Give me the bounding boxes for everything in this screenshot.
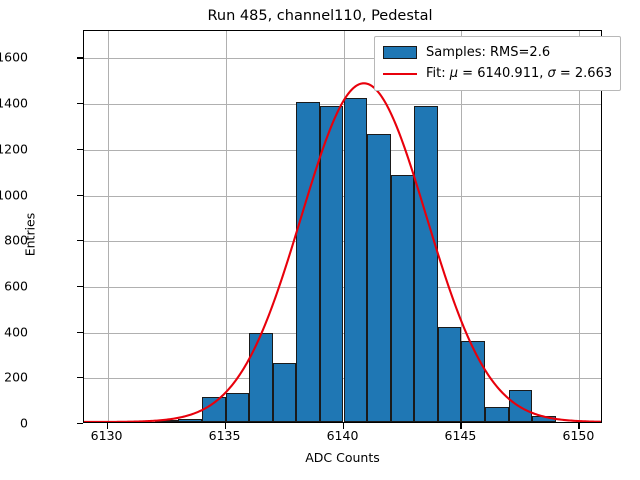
x-axis-tick-mark bbox=[343, 423, 344, 429]
chart-legend: Samples: RMS=2.6 Fit: μ = 6140.911, σ = … bbox=[374, 36, 621, 91]
legend-entry-samples: Samples: RMS=2.6 bbox=[383, 42, 612, 63]
legend-label-samples: Samples: RMS=2.6 bbox=[426, 45, 550, 60]
legend-fit-mu-symbol: μ bbox=[450, 66, 458, 81]
y-axis-tick-label: 600 bbox=[0, 278, 28, 293]
legend-entry-fit: Fit: μ = 6140.911, σ = 2.663 bbox=[383, 63, 612, 84]
legend-fit-mu-value: = 6140.911, bbox=[458, 66, 547, 81]
x-axis-tick-mark bbox=[225, 423, 226, 429]
x-axis-tick-mark bbox=[107, 423, 108, 429]
y-axis-tick-label: 1600 bbox=[0, 50, 28, 65]
x-axis-tick-label: 6140 bbox=[308, 428, 378, 443]
legend-fit-sigma-symbol: σ bbox=[548, 66, 556, 81]
x-axis-tick-label: 6145 bbox=[425, 428, 495, 443]
legend-fit-sigma-value: = 2.663 bbox=[556, 66, 612, 81]
y-axis-tick-label: 400 bbox=[0, 324, 28, 339]
x-axis-label: ADC Counts bbox=[83, 450, 602, 465]
y-axis-tick-label: 0 bbox=[0, 416, 28, 431]
y-axis-tick-mark bbox=[77, 423, 83, 424]
legend-fit-prefix: Fit: bbox=[426, 66, 450, 81]
y-axis-tick-label: 1200 bbox=[0, 141, 28, 156]
x-axis-tick-label: 6130 bbox=[72, 428, 142, 443]
x-axis-tick-label: 6150 bbox=[543, 428, 613, 443]
y-axis-tick-label: 1000 bbox=[0, 187, 28, 202]
x-axis-tick-mark bbox=[578, 423, 579, 429]
legend-swatch-samples-icon bbox=[383, 46, 417, 59]
y-axis-tick-label: 200 bbox=[0, 370, 28, 385]
y-axis-tick-label: 1400 bbox=[0, 96, 28, 111]
legend-label-fit: Fit: μ = 6140.911, σ = 2.663 bbox=[426, 66, 612, 81]
legend-swatch-fit-icon bbox=[383, 73, 417, 75]
histogram-figure: Run 485, channel110, Pedestal Entries AD… bbox=[0, 0, 640, 480]
page-title: Run 485, channel110, Pedestal bbox=[0, 8, 640, 24]
x-axis-tick-label: 6135 bbox=[190, 428, 260, 443]
x-axis-tick-mark bbox=[460, 423, 461, 429]
y-axis-tick-label: 800 bbox=[0, 233, 28, 248]
